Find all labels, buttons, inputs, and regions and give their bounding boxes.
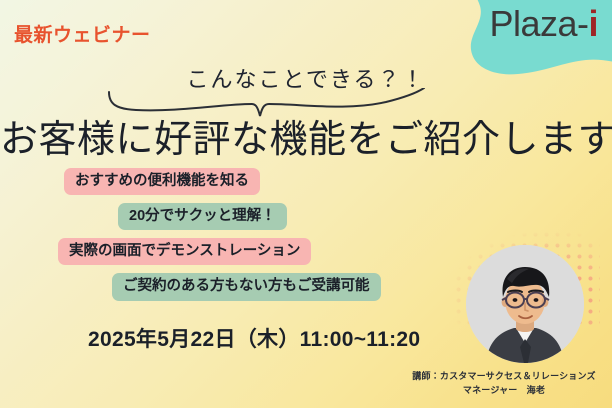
sub-headline: こんなことできる？！	[0, 62, 612, 94]
speaker-credit-line-1: 講師：カスタマーサクセス＆リレーションズ	[398, 370, 610, 384]
speaker-portrait-avatar	[466, 245, 584, 363]
kicker-label: 最新ウェビナー	[14, 20, 151, 47]
logo-text: Plaza-	[489, 3, 588, 44]
bullet-row: 実際の画面でデモンストレーション	[0, 238, 420, 273]
plaza-i-logo: Plaza-i	[489, 6, 598, 42]
speaker-credit: 講師：カスタマーサクセス＆リレーションズ マネージャー 海老	[398, 370, 610, 398]
bullet-pill: ご契約のある方もない方もご受講可能	[112, 273, 381, 300]
schedule-datetime: 2025年5月22日（木）11:00~11:20	[88, 323, 420, 353]
bullet-row: ご契約のある方もない方もご受講可能	[0, 273, 420, 308]
logo-accent-letter: i	[588, 3, 598, 44]
bullet-row: 20分でサクッと理解！	[0, 203, 420, 238]
bullet-pill-list: おすすめの便利機能を知る 20分でサクッと理解！ 実際の画面でデモンストレーショ…	[0, 168, 420, 309]
webinar-banner: Plaza-i 最新ウェビナー こんなことできる？！ お客様に好評な機能をご紹介…	[0, 0, 612, 408]
bullet-pill: おすすめの便利機能を知る	[64, 168, 260, 195]
bullet-pill: 20分でサクッと理解！	[118, 203, 287, 230]
speaker-photo-illustration	[466, 245, 584, 363]
main-headline: お客様に好評な機能をご紹介します	[0, 108, 612, 163]
speaker-credit-line-2: マネージャー 海老	[398, 384, 610, 398]
bullet-pill: 実際の画面でデモンストレーション	[58, 238, 311, 265]
bullet-row: おすすめの便利機能を知る	[0, 168, 420, 203]
